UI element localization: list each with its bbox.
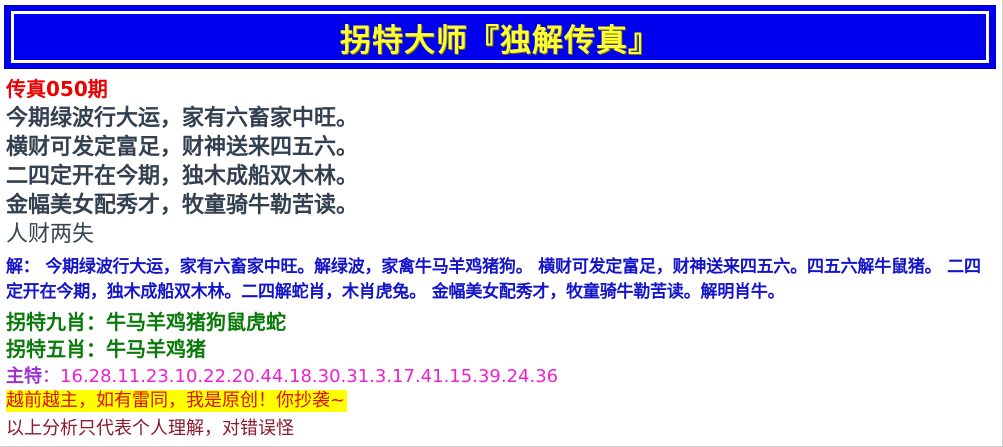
pick-nine-value: 牛马羊鸡猪狗鼠虎蛇: [106, 310, 286, 334]
main-pick-row: 主特：16.28.11.23.10.22.20.44.18.30.31.3.17…: [6, 365, 996, 389]
header-banner: 拐特大师『独解传真』: [4, 5, 996, 69]
page-root: 拐特大师『独解传真』 传真050期 今期绿波行大运，家有六畜家中旺。 横财可发定…: [0, 0, 1003, 447]
main-pick-label: 主特: [6, 366, 42, 387]
pick-row-nine: 拐特九肖：牛马羊鸡猪狗鼠虎蛇: [6, 309, 996, 336]
verse-footer: 人财两失: [6, 220, 996, 249]
verse-line-4: 金幅美女配秀才，牧童骑牛勒苦读。: [6, 191, 996, 220]
verse-line-3: 二四定开在今期，独木成船双木林。: [6, 162, 996, 191]
main-content: 传真050期 今期绿波行大运，家有六畜家中旺。 横财可发定富足，财神送来四五六。…: [6, 76, 996, 442]
highlight-note-wrapper: 越前越主，如有雷同，我是原创！你抄袭~: [6, 389, 996, 412]
verse-line-2: 横财可发定富足，财神送来四五六。: [6, 133, 996, 162]
explanation-paragraph: 解： 今期绿波行大运，家有六畜家中旺。解绿波，家禽牛马羊鸡猪狗。 横财可发定富足…: [6, 255, 996, 305]
main-pick-numbers: 16.28.11.23.10.22.20.44.18.30.31.3.17.41…: [60, 366, 558, 387]
pick-nine-label: 拐特九肖：: [6, 310, 106, 334]
issue-title: 传真050期: [6, 76, 996, 102]
header-banner-inner-border: 拐特大师『独解传真』: [11, 11, 989, 63]
pick-five-value: 牛马羊鸡猪: [106, 337, 206, 361]
highlight-note: 越前越主，如有雷同，我是原创！你抄袭~: [6, 390, 347, 412]
pick-five-label: 拐特五肖：: [6, 337, 106, 361]
pick-row-five: 拐特五肖：牛马羊鸡猪: [6, 336, 996, 363]
page-title: 拐特大师『独解传真』: [340, 15, 660, 60]
disclaimer-text: 以上分析只代表个人理解，对错误怪: [6, 416, 996, 442]
verse-line-1: 今期绿波行大运，家有六畜家中旺。: [6, 104, 996, 133]
main-pick-colon: ：: [42, 366, 60, 387]
